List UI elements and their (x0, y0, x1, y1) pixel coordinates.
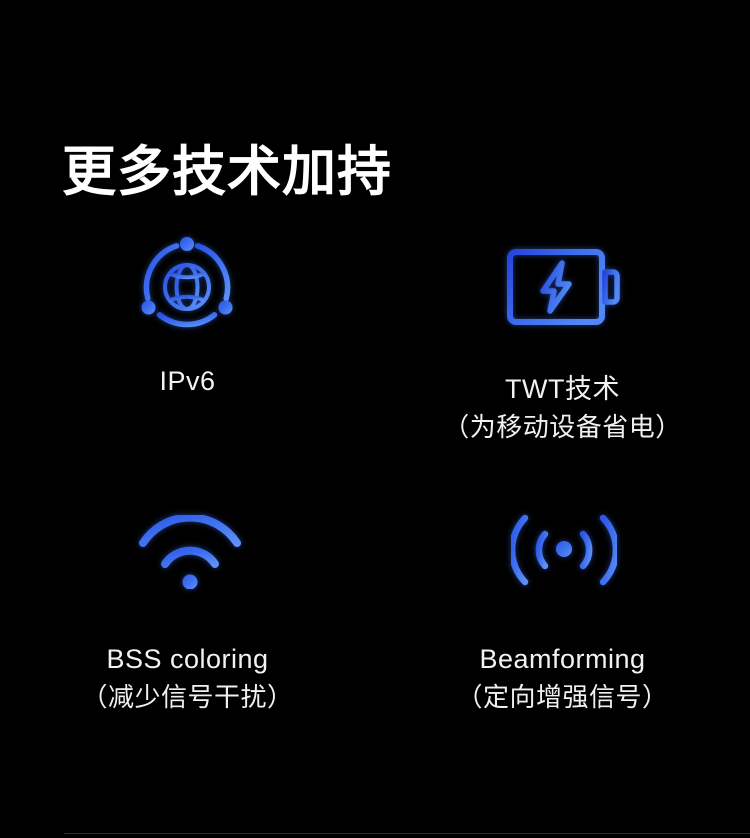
feature-highlights-page: 更多技术加持 (0, 0, 750, 838)
feature-label: IPv6 (159, 364, 215, 399)
feature-sublabel: （减少信号干扰） (81, 681, 293, 715)
feature-item-ipv6: IPv6 (0, 232, 375, 504)
feature-label: BSS coloring (106, 642, 268, 677)
feature-item-beamforming: Beamforming （定向增强信号） (375, 504, 750, 736)
feature-sublabel: （定向增强信号） (456, 681, 668, 715)
feature-grid: IPv6 (0, 232, 750, 736)
feature-label: Beamforming (479, 642, 645, 677)
wifi-signal-icon (137, 504, 243, 600)
broadcast-antenna-icon (511, 504, 617, 600)
page-title: 更多技术加持 (62, 142, 392, 202)
feature-item-bss-coloring: BSS coloring （减少信号干扰） (0, 504, 375, 736)
feature-item-twt: TWT技术 （为移动设备省电） (375, 232, 750, 504)
feature-sublabel: （为移动设备省电） (443, 411, 682, 445)
bottom-divider (64, 833, 750, 834)
battery-bolt-icon (506, 232, 624, 342)
globe-network-icon (135, 232, 239, 342)
feature-label: TWT技术 (505, 372, 620, 407)
